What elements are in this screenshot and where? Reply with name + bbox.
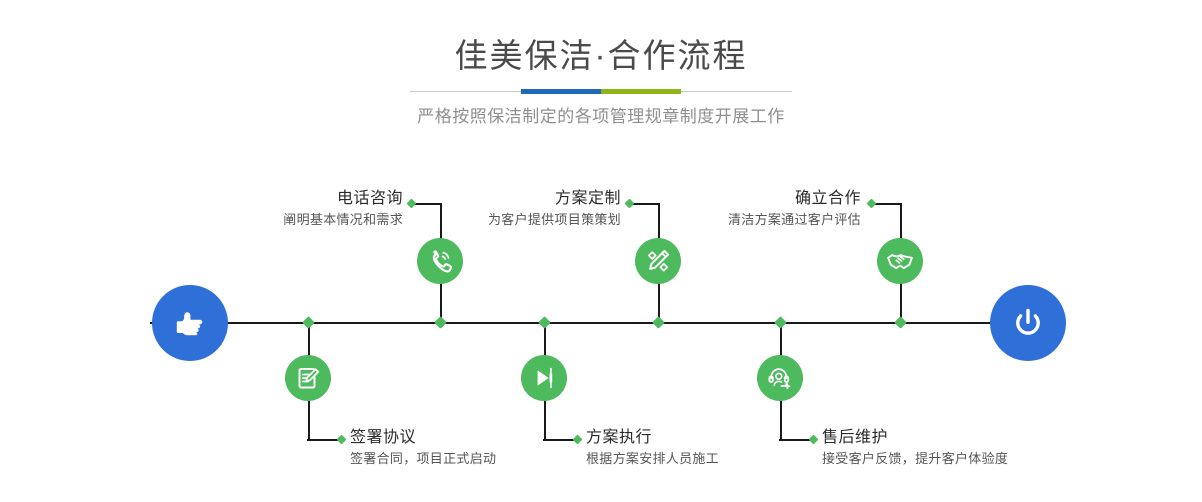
step-1-icon-circle[interactable] (417, 238, 463, 284)
header: 佳美保洁·合作流程 严格按照保洁制定的各项管理规章制度开展工作 (0, 34, 1202, 129)
customer-support-icon (765, 363, 795, 393)
document-edit-icon (293, 363, 323, 393)
axis-node-1 (434, 316, 447, 329)
timeline-end-badge (990, 285, 1066, 361)
step-5-icon-circle[interactable] (877, 238, 923, 284)
step-3-icon-circle[interactable] (635, 238, 681, 284)
step-4-icon-circle[interactable] (521, 355, 567, 401)
phone-call-icon (425, 246, 455, 276)
axis-node-6 (774, 316, 787, 329)
label-node-5 (867, 199, 877, 209)
step-6-icon-circle[interactable] (757, 355, 803, 401)
step-2-icon-circle[interactable] (285, 355, 331, 401)
title-divider (410, 87, 792, 97)
handshake-icon (885, 246, 915, 276)
divider-segment-green (601, 89, 681, 94)
label-node-2 (337, 435, 347, 445)
axis-node-2 (302, 316, 315, 329)
timeline-axis (150, 322, 1052, 324)
step-5-title: 确立合作 (556, 188, 861, 210)
play-skip-icon (529, 363, 559, 393)
axis-node-4 (538, 316, 551, 329)
timeline-start-badge (152, 285, 228, 361)
page-title: 佳美保洁·合作流程 (0, 34, 1202, 78)
step-6-title: 售后维护 (822, 427, 1172, 449)
step-6-desc: 接受客户反馈，提升客户体验度 (822, 449, 1172, 469)
page-subtitle: 严格按照保洁制定的各项管理规章制度开展工作 (0, 105, 1202, 129)
power-icon (1008, 303, 1048, 343)
step-5-label: 确立合作 清洁方案通过客户评估 (556, 188, 861, 230)
step-5-desc: 清洁方案通过客户评估 (556, 210, 861, 230)
hand-point-right-icon (170, 303, 210, 343)
step-6-label: 售后维护 接受客户反馈，提升客户体验度 (822, 427, 1172, 469)
axis-node-3 (652, 316, 665, 329)
infographic-page: 佳美保洁·合作流程 严格按照保洁制定的各项管理规章制度开展工作 (0, 0, 1202, 502)
pencil-design-icon (643, 246, 673, 276)
axis-node-5 (894, 316, 907, 329)
divider-segment-blue (521, 89, 601, 94)
